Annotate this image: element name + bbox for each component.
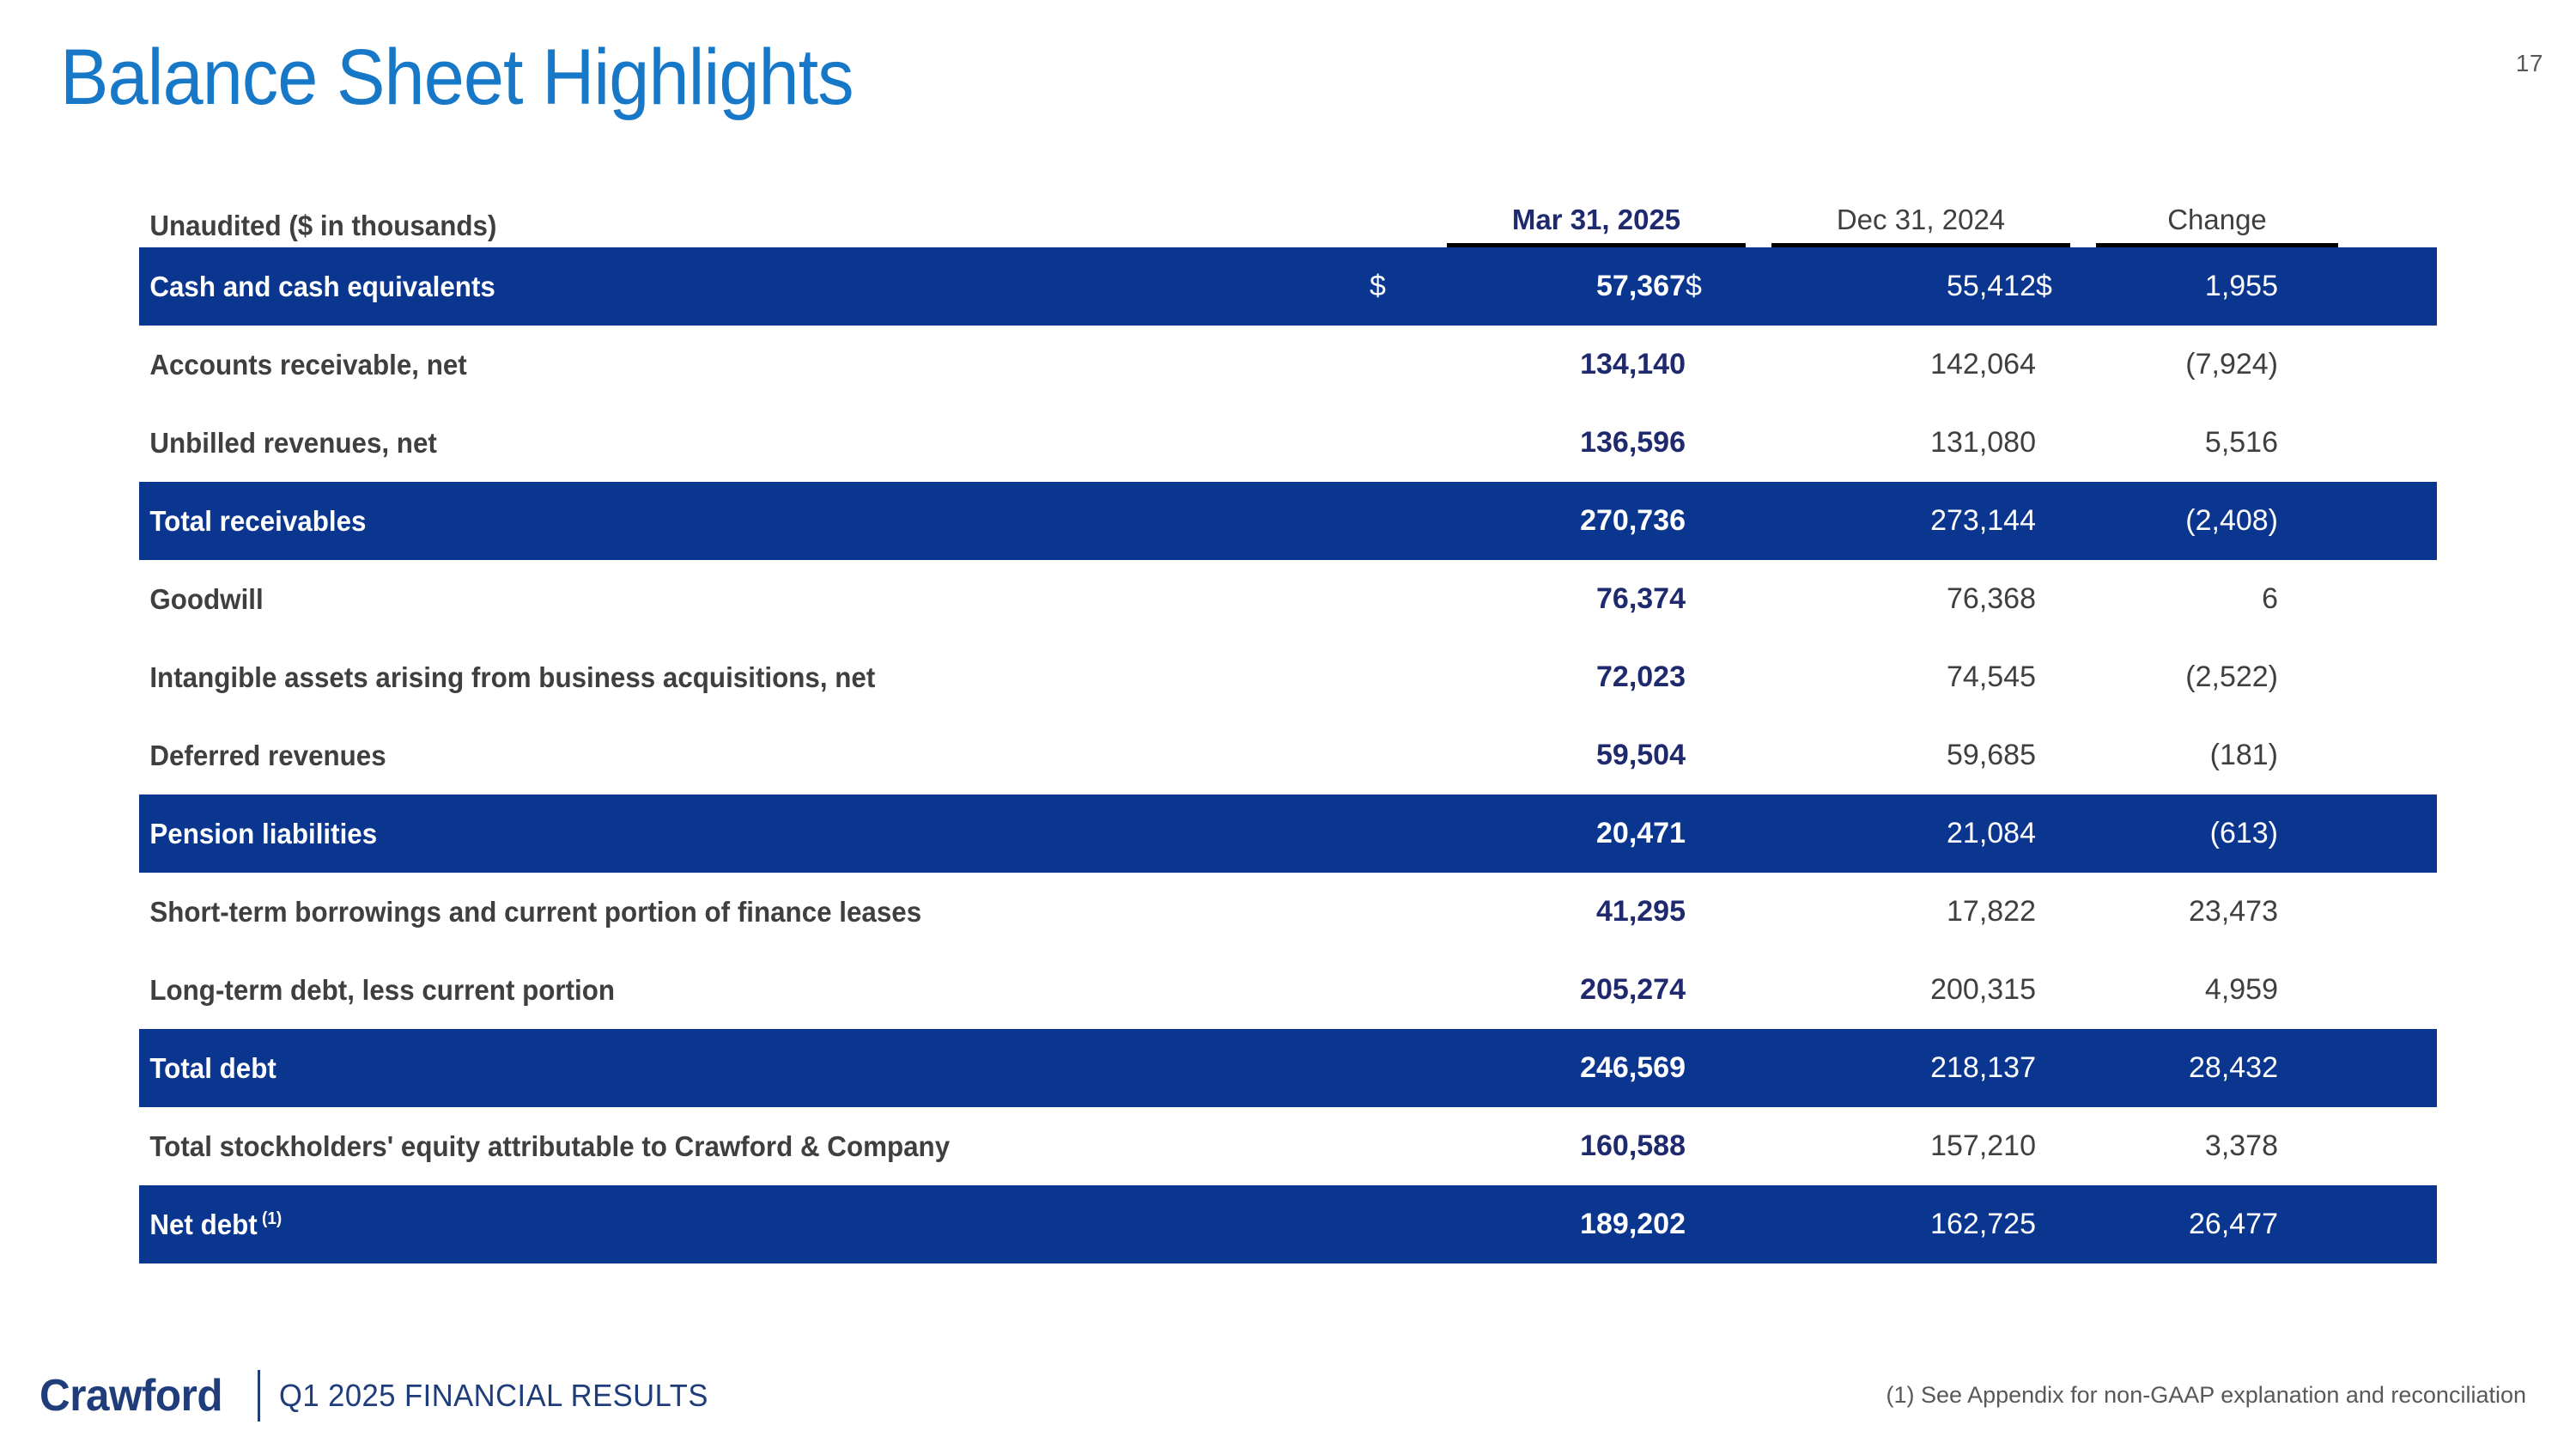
value-change: 3,378 <box>2087 1129 2278 1163</box>
row-label: Intangible assets arising from business … <box>139 661 1308 694</box>
value-previous: 55,412 <box>1763 270 2036 303</box>
table-row: Goodwill$76,374$76,368$6 <box>139 560 2437 638</box>
value-previous: 200,315 <box>1763 973 2036 1007</box>
brand-lockup: Crawford Q1 2025 FINANCIAL RESULTS <box>39 1370 726 1422</box>
footer-subtitle: Q1 2025 FINANCIAL RESULTS <box>279 1378 708 1414</box>
value-current: 41,295 <box>1421 895 1686 928</box>
value-previous: 59,685 <box>1763 739 2036 772</box>
currency-symbol-previous: $ <box>1686 270 1737 303</box>
row-label: Total stockholders' equity attributable … <box>139 1130 1308 1163</box>
value-previous: 131,080 <box>1763 426 2036 460</box>
footnote-marker: (1) <box>258 1209 283 1228</box>
table-row: Total stockholders' equity attributable … <box>139 1107 2437 1185</box>
column-header-current: Mar 31, 2025 <box>1447 204 1746 247</box>
column-header-previous: Dec 31, 2024 <box>1771 204 2070 247</box>
row-label: Total receivables <box>139 505 1308 538</box>
row-label: Unbilled revenues, net <box>139 427 1308 460</box>
value-change: (181) <box>2087 739 2278 772</box>
row-label: Accounts receivable, net <box>139 349 1308 381</box>
value-change: 23,473 <box>2087 895 2278 928</box>
table-row: Total receivables$270,736$273,144$(2,408… <box>139 482 2437 560</box>
value-current: 136,596 <box>1421 426 1686 460</box>
value-change: 5,516 <box>2087 426 2278 460</box>
value-current: 270,736 <box>1421 504 1686 538</box>
row-label: Long-term debt, less current portion <box>139 974 1308 1007</box>
table-row: Pension liabilities$20,471$21,084$(613) <box>139 795 2437 873</box>
row-label: Goodwill <box>139 583 1308 616</box>
value-current: 160,588 <box>1421 1129 1686 1163</box>
value-change: 28,432 <box>2087 1051 2278 1085</box>
table-row: Unbilled revenues, net$136,596$131,080$5… <box>139 404 2437 482</box>
table-row: Net debt (1)$189,202$162,725$26,477 <box>139 1185 2437 1263</box>
page-title: Balance Sheet Highlights <box>60 33 854 123</box>
table-row: Total debt$246,569$218,137$28,432 <box>139 1029 2437 1107</box>
table-body: Cash and cash equivalents$57,367$55,412$… <box>139 247 2437 1263</box>
balance-sheet-table: Unaudited ($ in thousands) Mar 31, 2025 … <box>139 168 2437 1263</box>
value-previous: 76,368 <box>1763 582 2036 616</box>
value-current: 72,023 <box>1421 661 1686 694</box>
column-header-change: Change <box>2096 204 2338 247</box>
row-label: Net debt (1) <box>139 1209 1308 1241</box>
crawford-logo: Crawford <box>39 1370 222 1422</box>
value-previous: 21,084 <box>1763 817 2036 850</box>
row-label: Total debt <box>139 1052 1308 1085</box>
logo-divider <box>258 1370 260 1422</box>
value-previous: 273,144 <box>1763 504 2036 538</box>
value-previous: 218,137 <box>1763 1051 2036 1085</box>
row-label: Pension liabilities <box>139 818 1308 850</box>
value-previous: 17,822 <box>1763 895 2036 928</box>
slide-footer: Crawford Q1 2025 FINANCIAL RESULTS (1) S… <box>0 1346 2576 1449</box>
page-number: 17 <box>2516 50 2543 77</box>
row-label: Deferred revenues <box>139 740 1308 772</box>
table-row: Long-term debt, less current portion$205… <box>139 951 2437 1029</box>
value-change: (613) <box>2087 817 2278 850</box>
row-label: Cash and cash equivalents <box>139 271 1308 303</box>
value-current: 134,140 <box>1421 348 1686 381</box>
value-previous: 142,064 <box>1763 348 2036 381</box>
value-previous: 74,545 <box>1763 661 2036 694</box>
value-current: 205,274 <box>1421 973 1686 1007</box>
value-current: 59,504 <box>1421 739 1686 772</box>
value-change: (2,522) <box>2087 661 2278 694</box>
currency-symbol-change: $ <box>2036 270 2087 303</box>
value-current: 189,202 <box>1421 1208 1686 1241</box>
table-row: Intangible assets arising from business … <box>139 638 2437 716</box>
currency-symbol-current: $ <box>1370 270 1421 303</box>
table-row: Cash and cash equivalents$57,367$55,412$… <box>139 247 2437 326</box>
row-label: Short-term borrowings and current portio… <box>139 896 1308 928</box>
value-previous: 157,210 <box>1763 1129 2036 1163</box>
value-previous: 162,725 <box>1763 1208 2036 1241</box>
value-change: (2,408) <box>2087 504 2278 538</box>
value-current: 76,374 <box>1421 582 1686 616</box>
table-row: Short-term borrowings and current portio… <box>139 873 2437 951</box>
footnote: (1) See Appendix for non-GAAP explanatio… <box>1886 1382 2526 1409</box>
table-row: Accounts receivable, net$134,140$142,064… <box>139 326 2437 404</box>
value-current: 20,471 <box>1421 817 1686 850</box>
table-subtitle: Unaudited ($ in thousands) <box>139 210 1357 247</box>
table-row: Deferred revenues$59,504$59,685$(181) <box>139 716 2437 795</box>
value-change: 4,959 <box>2087 973 2278 1007</box>
value-current: 246,569 <box>1421 1051 1686 1085</box>
value-change: 1,955 <box>2087 270 2278 303</box>
table-header-row: Unaudited ($ in thousands) Mar 31, 2025 … <box>139 168 2437 247</box>
value-current: 57,367 <box>1421 270 1686 303</box>
value-change: 6 <box>2087 582 2278 616</box>
value-change: (7,924) <box>2087 348 2278 381</box>
value-change: 26,477 <box>2087 1208 2278 1241</box>
